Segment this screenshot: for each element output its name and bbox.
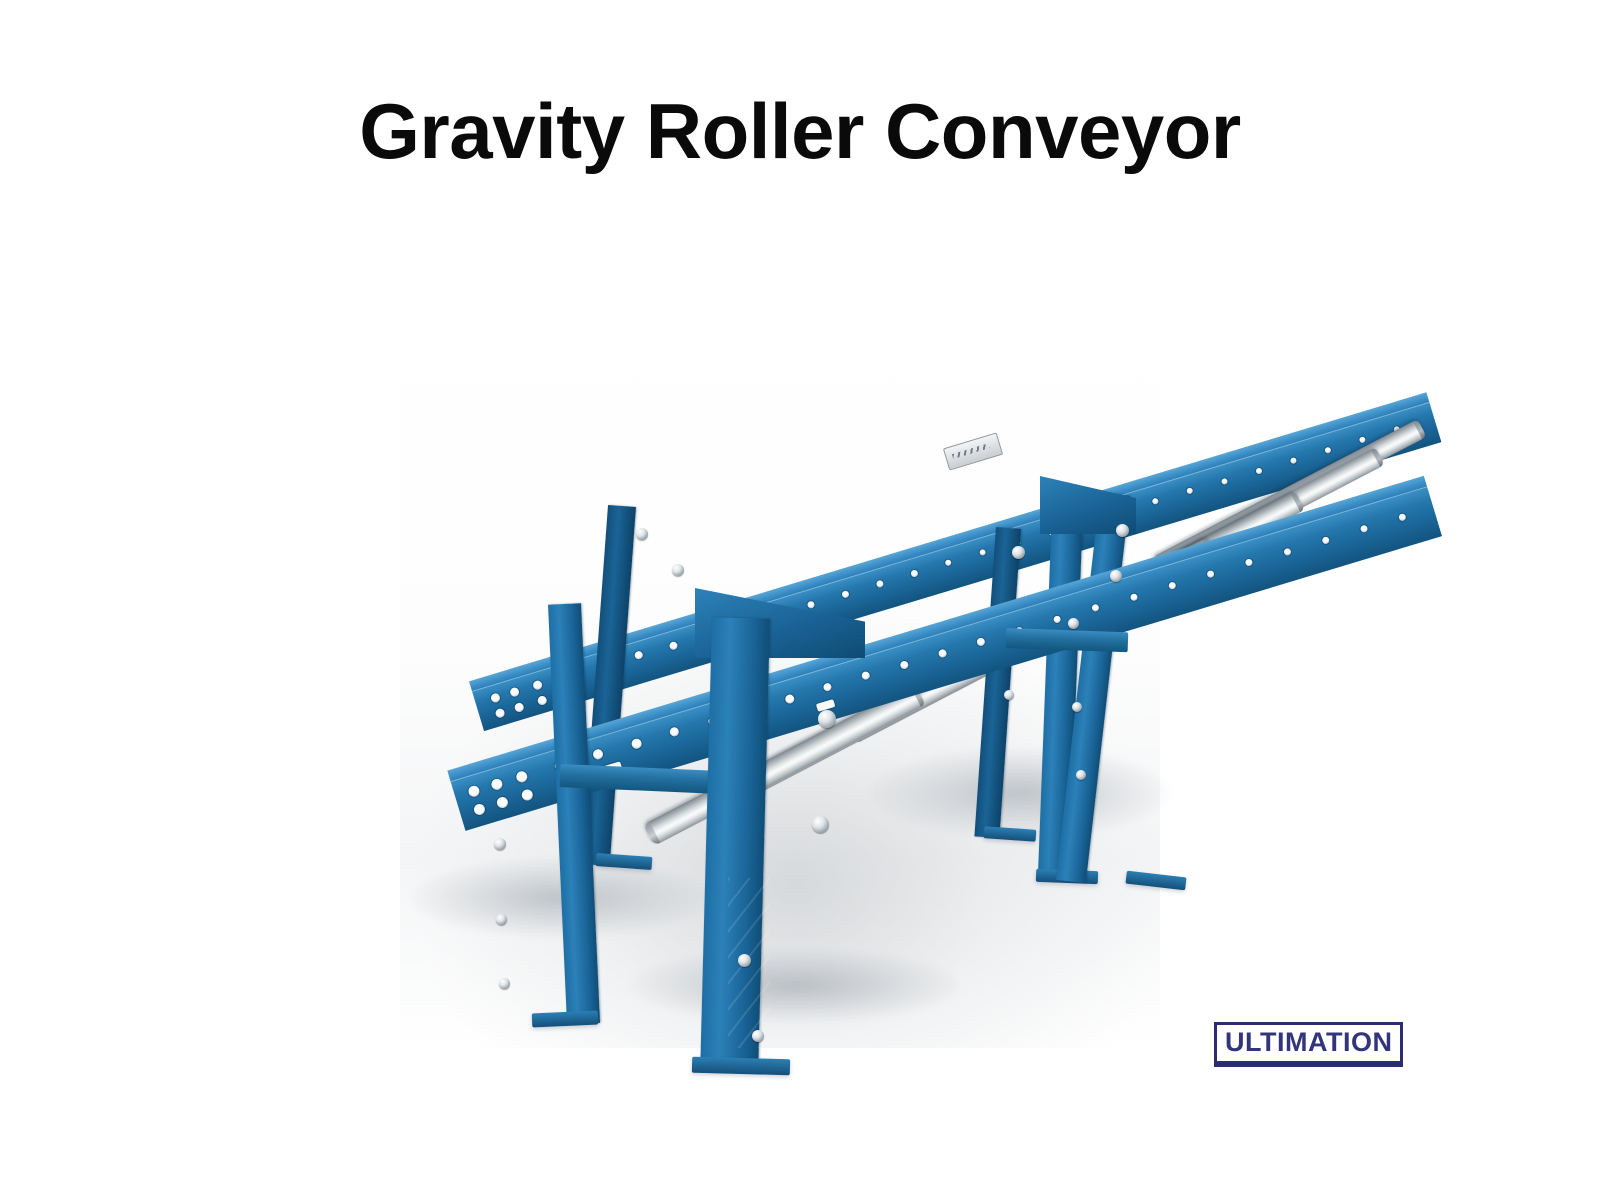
hex-bolt bbox=[818, 710, 836, 728]
roller-axle-hub bbox=[672, 564, 684, 576]
hex-bolt bbox=[1116, 524, 1129, 537]
hex-bolt bbox=[1004, 690, 1014, 700]
hex-bolt bbox=[496, 914, 507, 925]
support-cross-brace-right bbox=[1006, 628, 1129, 652]
roller-axle-hub bbox=[636, 528, 648, 540]
ultimation-logo: ULTIMATION bbox=[1214, 1022, 1403, 1064]
hex-bolt bbox=[1110, 570, 1122, 582]
hex-bolt bbox=[1072, 702, 1082, 712]
floor-shadow-front bbox=[630, 948, 960, 1023]
support-foot-front-left bbox=[532, 1011, 599, 1028]
ultimation-logo-text: ULTIMATION bbox=[1225, 1029, 1392, 1056]
hex-bolt bbox=[752, 1030, 764, 1042]
floor-shadow-right bbox=[870, 748, 1170, 838]
hex-bolt bbox=[1068, 618, 1079, 629]
slide-canvas: Gravity Roller Conveyor bbox=[0, 0, 1600, 1200]
hex-bolt bbox=[738, 954, 751, 967]
hex-bolt bbox=[1076, 770, 1086, 780]
roller-axle-hub bbox=[1012, 546, 1025, 559]
product-photo bbox=[400, 318, 1160, 1048]
support-foot-left-center bbox=[692, 1057, 790, 1076]
hex-bolt bbox=[812, 816, 829, 833]
hex-bolt bbox=[494, 838, 506, 850]
hex-bolt bbox=[499, 978, 510, 989]
page-title: Gravity Roller Conveyor bbox=[0, 92, 1600, 170]
